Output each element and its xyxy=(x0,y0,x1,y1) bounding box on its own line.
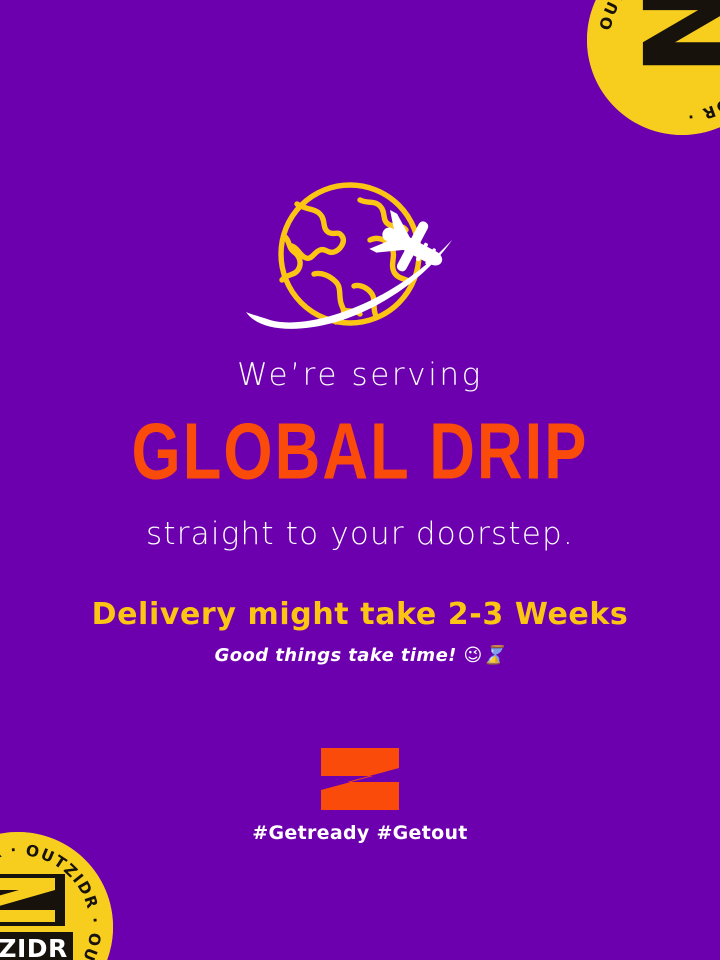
promo-poster: OUTZIDR · OUTZIDR · OUTZIDR · xyxy=(0,0,720,960)
page-title: GLOBAL DRIP xyxy=(0,413,720,492)
outzidr-z-logo xyxy=(321,748,399,810)
brand-badge-bottom-left: OUTZIDR · OUTZIDR · OUTZIDR · OUTZIDR xyxy=(0,832,113,960)
globe-icon xyxy=(281,185,419,323)
poster-copy-block: We’re serving GLOBAL DRIP straight to yo… xyxy=(0,360,720,665)
subheadline-text: straight to your doorstep. xyxy=(0,519,720,550)
delivery-notice: Delivery might take 2-3 Weeks xyxy=(0,600,720,630)
svg-text:OUTZIDR: OUTZIDR xyxy=(0,934,68,960)
reassurance-text: Good things take time! 😉⌛ xyxy=(0,647,720,665)
brand-badge-top-right: OUTZIDR · OUTZIDR · OUTZIDR · xyxy=(587,0,720,135)
eyebrow-text: We’re serving xyxy=(0,360,720,391)
globe-airplane-illustration xyxy=(0,176,720,346)
footer-block: #Getready #Getout xyxy=(0,748,720,844)
